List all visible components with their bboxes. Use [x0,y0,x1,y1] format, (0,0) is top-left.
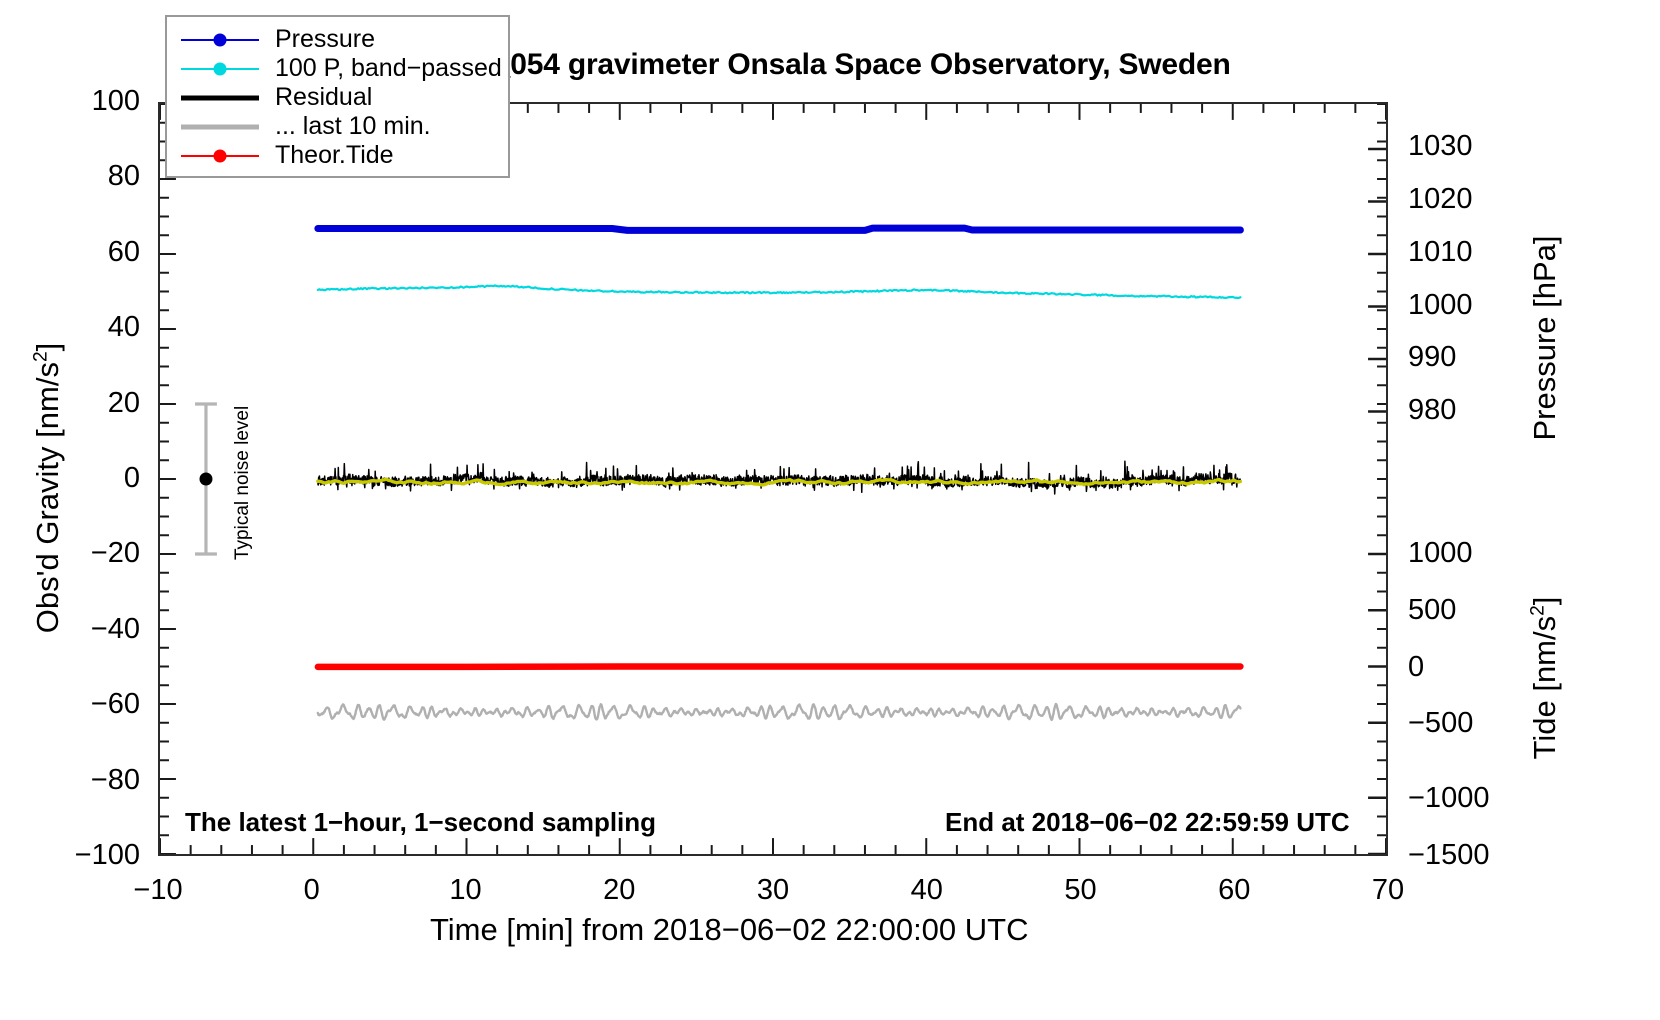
legend-label-4: Theor.Tide [275,143,394,168]
y-tick-left-6: −20 [10,537,140,570]
legend-item-0[interactable]: Pressure [167,25,508,54]
y-tick-left-1: 80 [10,160,140,193]
legend-swatch-icon-1 [181,60,259,78]
x-tick-1: 0 [252,874,372,907]
y-tick-tide-4: −1000 [1408,782,1538,815]
y-tick-left-9: −80 [10,764,140,797]
y-tick-pressure-3: 1000 [1408,289,1538,322]
legend-item-1[interactable]: 100 P, band−passed [167,54,508,83]
footnote-sampling: The latest 1−hour, 1−second sampling [185,807,656,838]
footnote-end-time: End at 2018−06−02 22:59:59 UTC [945,807,1350,838]
y-tick-tide-2: 0 [1408,651,1538,684]
legend-label-1: 100 P, band−passed [275,56,502,81]
x-tick-6: 50 [1021,874,1141,907]
y-axis-right-pressure-title: Pressure [hPa] [1527,178,1563,498]
legend-swatch-icon-3 [181,118,259,136]
plot-canvas [160,104,1386,854]
y-tick-left-4: 20 [10,387,140,420]
y-tick-left-5: 0 [10,462,140,495]
y-tick-pressure-2: 1010 [1408,236,1538,269]
chart-root: SCG_054 gravimeter Onsala Space Observat… [0,0,1660,1020]
noise-level-marker [195,404,217,554]
x-tick-7: 60 [1174,874,1294,907]
x-axis-title: Time [min] from 2018−06−02 22:00:00 UTC [430,912,1029,948]
y-tick-tide-3: −500 [1408,707,1538,740]
x-tick-2: 10 [406,874,526,907]
y-tick-pressure-4: 990 [1408,341,1538,374]
noise-level-label: Typical noise level [232,406,254,560]
x-tick-5: 40 [867,874,987,907]
legend-swatch-icon-2 [181,89,259,107]
y-tick-left-7: −40 [10,613,140,646]
x-tick-3: 20 [559,874,679,907]
legend-label-3: ... last 10 min. [275,114,431,139]
y-axis-left-title-sup: 2 [31,351,52,362]
y-tick-left-2: 60 [10,236,140,269]
legend-swatch-icon-4 [181,147,259,165]
y-tick-tide-0: 1000 [1408,537,1538,570]
plot-area [158,102,1388,856]
y-tick-pressure-1: 1020 [1408,183,1538,216]
x-tick-8: 70 [1328,874,1448,907]
y-tick-pressure-5: 980 [1408,394,1538,427]
y-tick-left-8: −60 [10,688,140,721]
legend: Pressure100 P, band−passedResidual... la… [165,15,510,178]
legend-item-4[interactable]: Theor.Tide [167,141,508,170]
legend-label-0: Pressure [275,27,375,52]
series-band-passed [318,285,1241,298]
legend-label-2: Residual [275,85,372,110]
x-tick-4: 30 [713,874,833,907]
y-tick-pressure-0: 1030 [1408,130,1538,163]
y-tick-tide-1: 500 [1408,594,1538,627]
y-tick-left-0: 100 [10,85,140,118]
x-tick-0: −10 [98,874,218,907]
series-last-10-min [318,704,1241,720]
legend-item-2[interactable]: Residual [167,83,508,112]
y-tick-left-10: −100 [10,839,140,872]
y-tick-tide-5: −1500 [1408,839,1538,872]
series-pressure [318,228,1241,230]
legend-item-3[interactable]: ... last 10 min. [167,112,508,141]
y-tick-left-3: 40 [10,311,140,344]
series-residual [318,461,1241,494]
legend-swatch-icon-0 [181,31,259,49]
